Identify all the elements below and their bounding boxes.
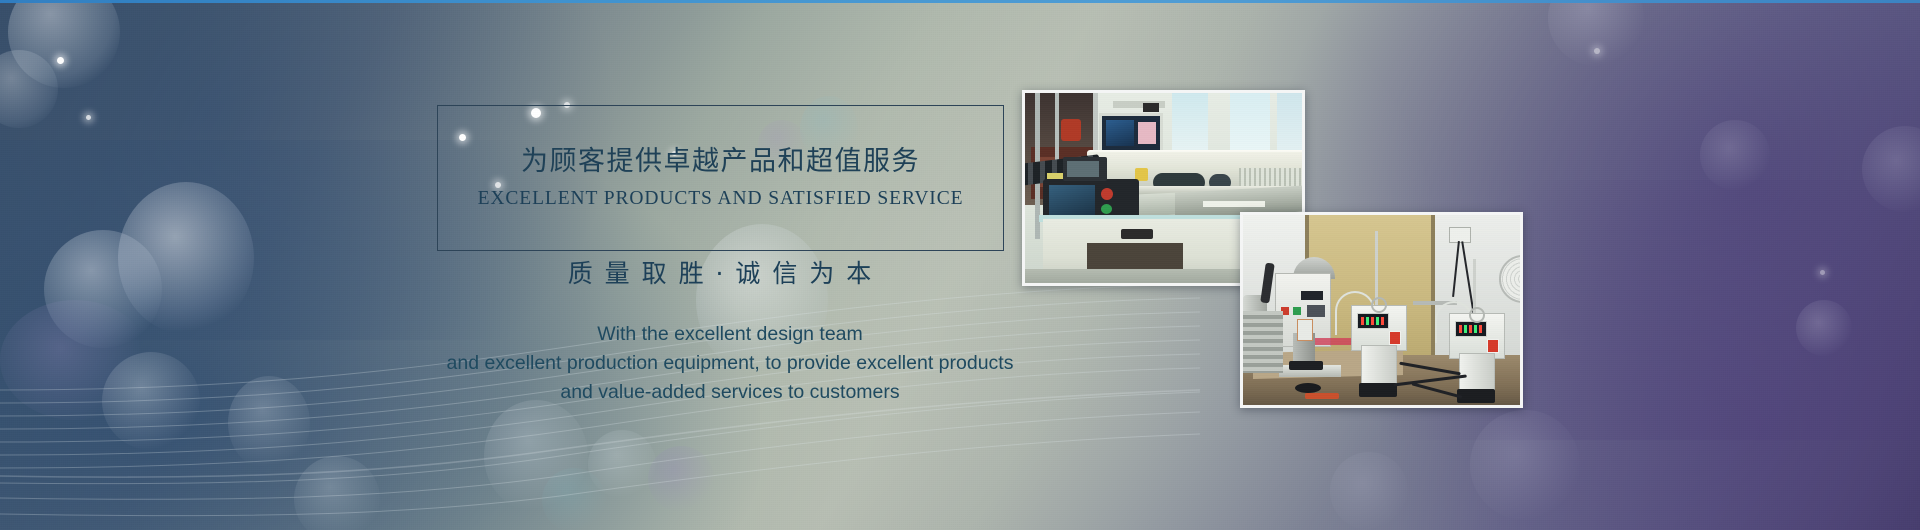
bokeh-circle (1700, 120, 1770, 190)
slogan-chinese: 质 量 取 胜 · 诚 信 为 本 (437, 258, 1004, 289)
paragraph-line-3: and value-added services to customers (330, 378, 1130, 407)
photo-terminal-crimping-machines (1240, 212, 1523, 408)
headline-chinese: 为顾客提供卓越产品和超值服务 (521, 148, 920, 175)
banner-copy: 为顾客提供卓越产品和超值服务 EXCELLENT PRODUCTS AND SA… (0, 0, 1180, 530)
paragraph-line-1: With the excellent design team (330, 320, 1130, 349)
description-paragraph: With the excellent design team and excel… (330, 320, 1130, 407)
bokeh-circle (1548, 0, 1644, 66)
bokeh-circle (1862, 126, 1920, 212)
bokeh-circle (1330, 452, 1408, 530)
headline-frame: 为顾客提供卓越产品和超值服务 EXCELLENT PRODUCTS AND SA… (437, 105, 1004, 251)
sparkle-dot (1820, 270, 1825, 275)
bokeh-circle (1796, 300, 1852, 356)
sparkle-dot (1594, 48, 1600, 54)
bokeh-circle (1470, 410, 1580, 520)
headline-english: EXCELLENT PRODUCTS AND SATISFIED SERVICE (478, 189, 964, 209)
paragraph-line-2: and excellent production equipment, to p… (330, 349, 1130, 378)
banner-slide: 为顾客提供卓越产品和超值服务 EXCELLENT PRODUCTS AND SA… (0, 0, 1920, 530)
